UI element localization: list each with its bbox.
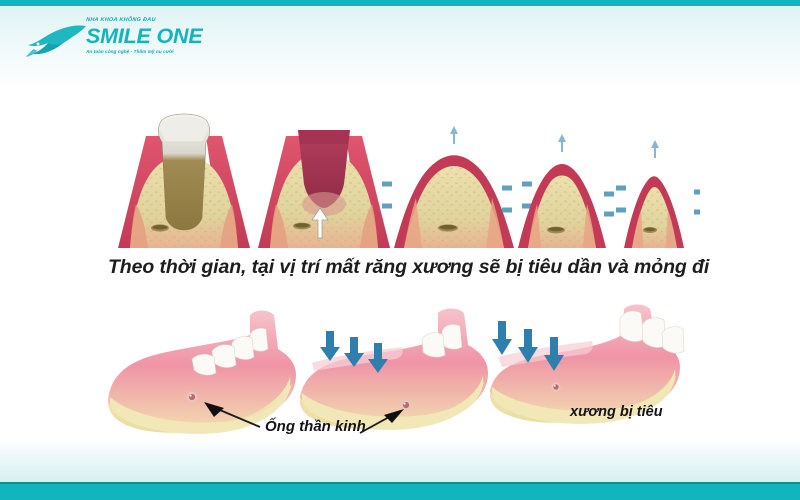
dolphin-logo-mark [24, 22, 90, 60]
page-root: NHA KHOA KHÔNG ĐAU SMILE ONE An toàn côn… [0, 0, 800, 500]
logo-brand-text: SMILE ONE [86, 25, 216, 48]
jaw-healthy [108, 311, 296, 434]
nerve-canal-marker [401, 400, 411, 410]
stage-5-severe-resorption [596, 140, 700, 248]
brand-logo[interactable]: NHA KHOA KHÔNG ĐAU SMILE ONE An toàn côn… [24, 16, 214, 68]
logo-tagline-text: An toàn công nghệ - Thẩm mỹ nụ cười [86, 48, 216, 56]
nerve-canal-label: Ống thần kinh [265, 418, 366, 435]
stage-1-tooth-present [118, 114, 250, 248]
illustration-caption: Theo thời gian, tại vị trí mất răng xươn… [108, 256, 698, 279]
stage-3-early-resorption [374, 126, 540, 248]
nerve-canal-marker [187, 392, 197, 402]
stage-4-moderate-resorption [494, 134, 634, 248]
stage-2-empty-socket [258, 130, 390, 248]
logo-kicker-text: NHA KHOA KHÔNG ĐAU [86, 16, 217, 25]
jaw-partial-loss [300, 309, 488, 434]
bone-loss-label: xương bị tiêu [570, 404, 663, 420]
footer-accent-bar [0, 482, 800, 500]
nerve-canal-marker [551, 382, 560, 391]
logo-wordmark: NHA KHOA KHÔNG ĐAU SMILE ONE An toàn côn… [86, 16, 216, 56]
